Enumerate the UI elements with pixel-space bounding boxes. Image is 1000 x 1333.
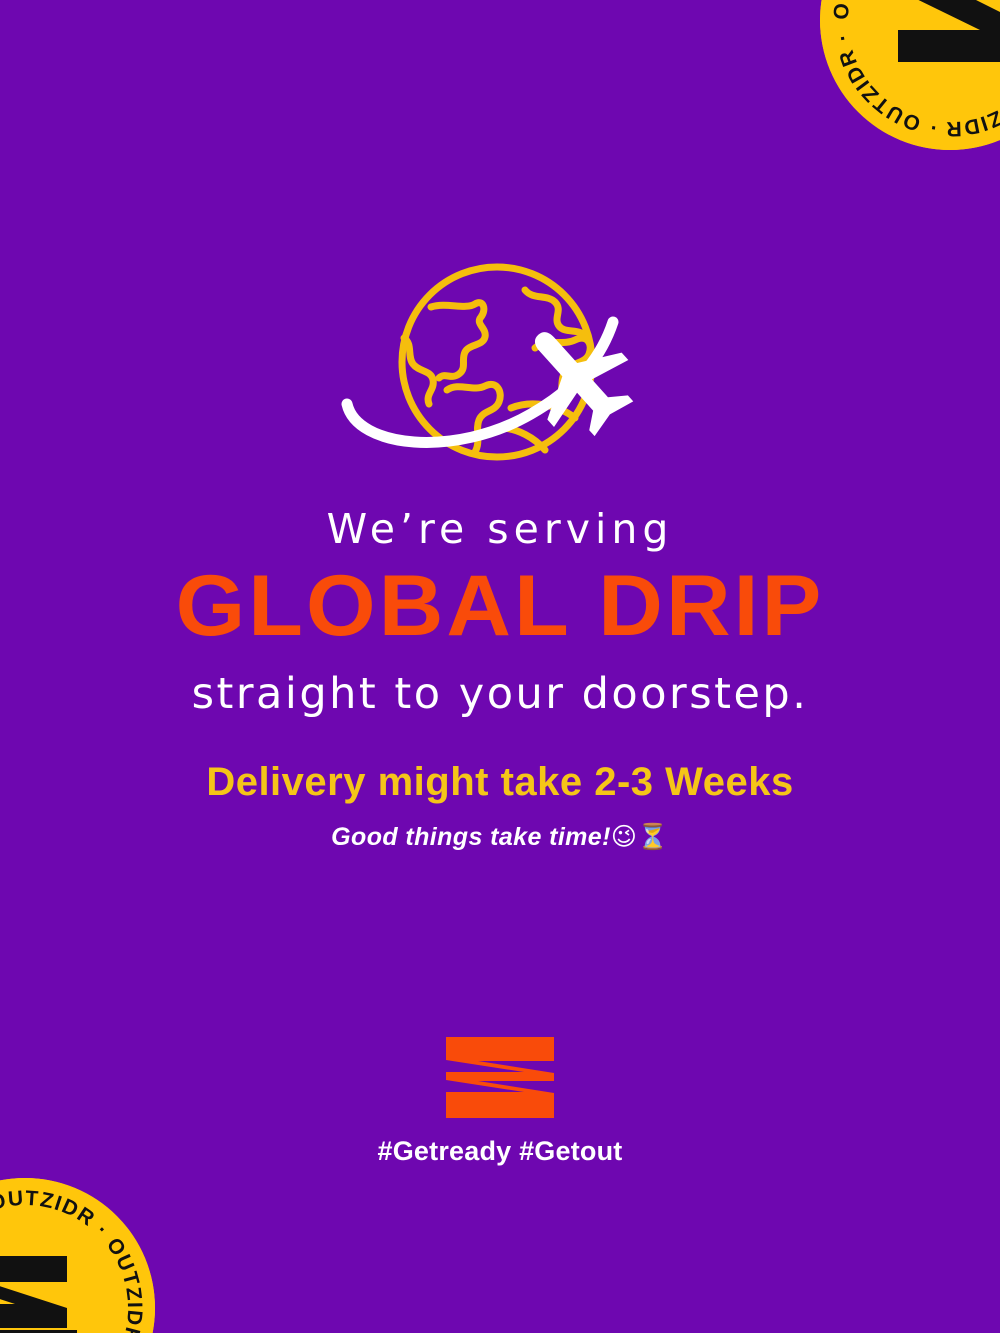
headline-main: GLOBAL DRIP <box>0 563 1000 649</box>
continent-north <box>431 303 485 378</box>
delivery-block: Delivery might take 2-3 Weeks Good thing… <box>0 760 1000 852</box>
footer-tagline: #Getready #Getout <box>0 1136 1000 1167</box>
delivery-headline: Delivery might take 2-3 Weeks <box>0 760 1000 805</box>
hourglass-icon: ⏳ <box>637 822 669 851</box>
globe-airplane-icon <box>335 252 665 472</box>
brand-stamp-top-right: OUTZIDR · OUTZIDR · OUTZIDR · OUTZIDR · … <box>820 0 1000 150</box>
brand-stamp-bottom-left: OUTZIDR · OUTZIDR · OUTZIDR · OUTZIDR · … <box>0 1178 155 1333</box>
wink-face-icon: 😉 <box>611 822 637 851</box>
poster-canvas: OUTZIDR · OUTZIDR · OUTZIDR · OUTZIDR · … <box>0 0 1000 1333</box>
headline-kicker: We’re serving <box>0 505 1000 553</box>
headline-sub: straight to your doorstep. <box>0 669 1000 721</box>
outzidr-z-logo <box>440 1035 560 1120</box>
headline-block: We’re serving GLOBAL DRIP straight to yo… <box>0 505 1000 721</box>
footer-block: #Getready #Getout <box>0 1035 1000 1167</box>
delivery-subtext-label: Good things take time! <box>331 823 611 851</box>
delivery-subtext: Good things take time!😉⏳ <box>0 822 1000 852</box>
